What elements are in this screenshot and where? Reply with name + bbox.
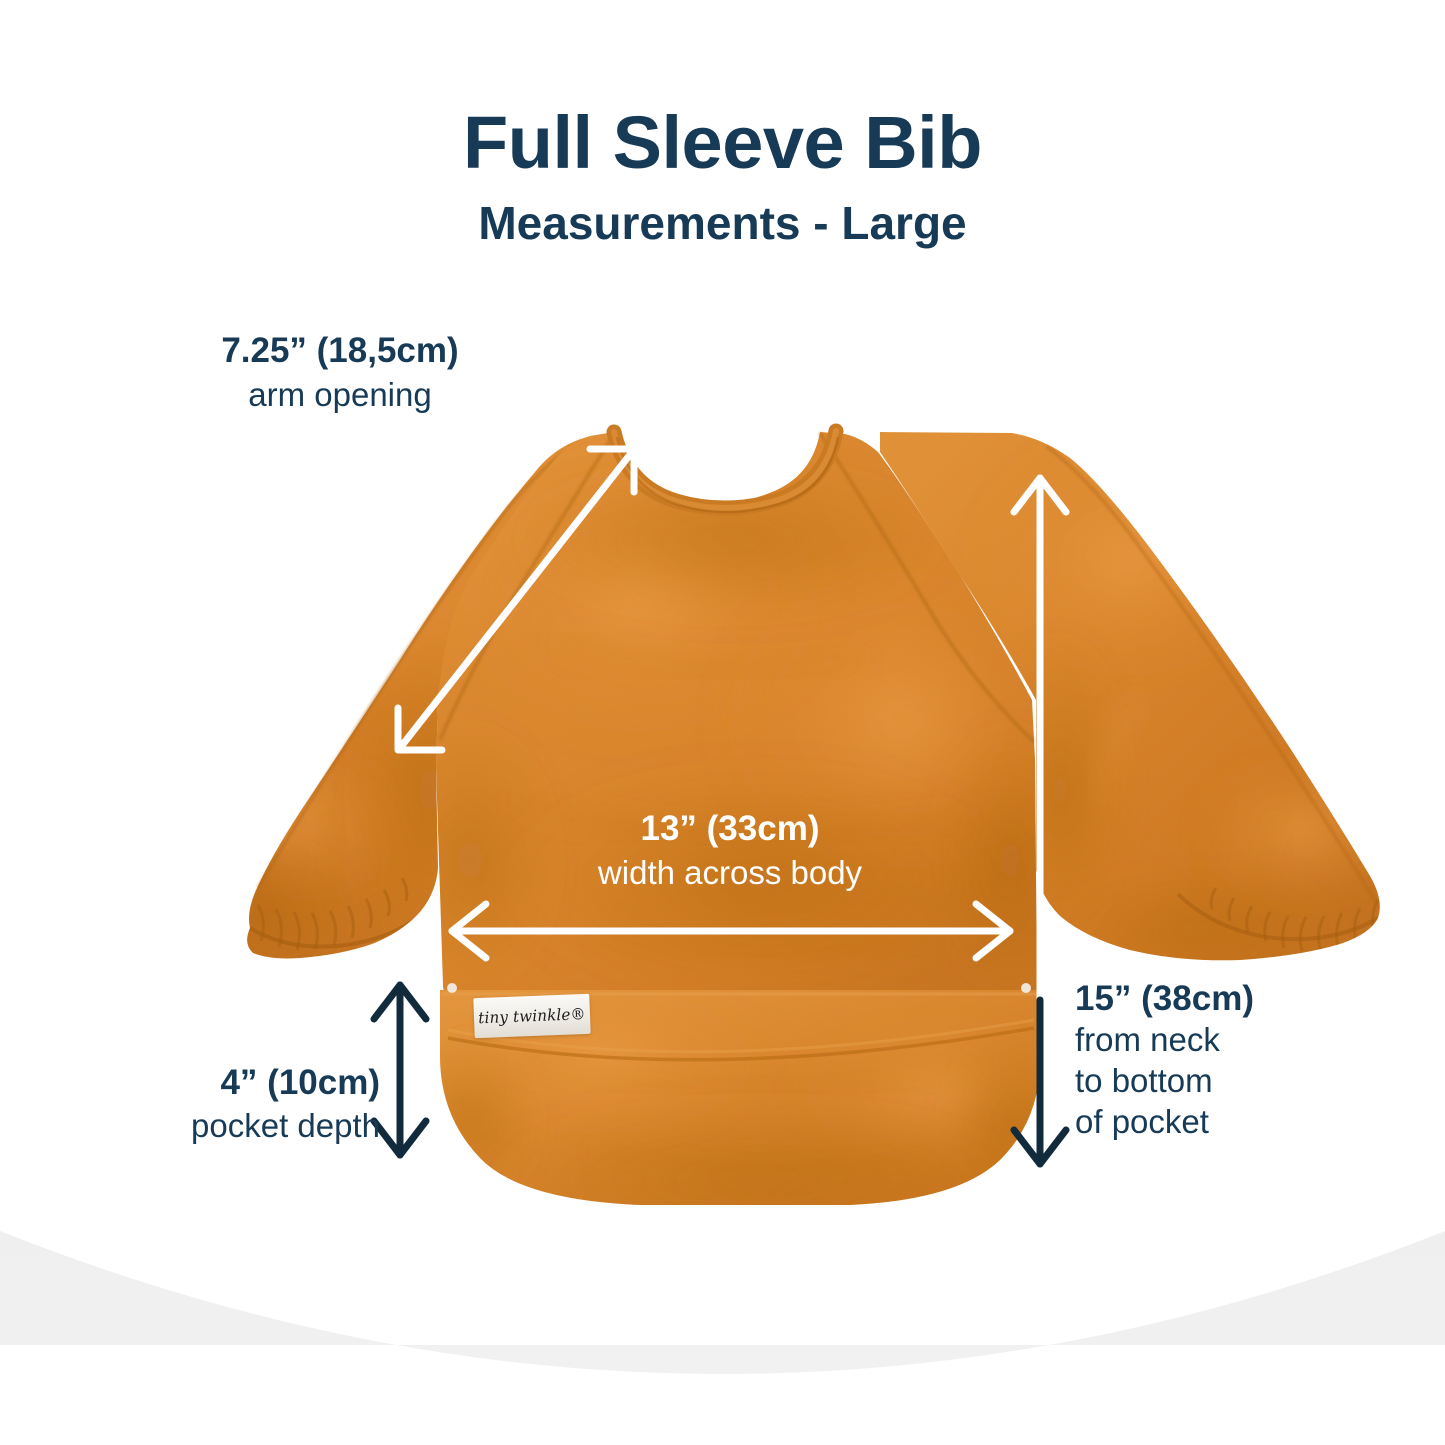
- pocket-snap-right: [1021, 983, 1031, 993]
- arm-opening-caption: arm opening: [60, 376, 620, 415]
- neck-to-pocket-value: 15” (38cm): [1075, 978, 1405, 1019]
- neck-to-pocket-caption-line3: of pocket: [1075, 1103, 1405, 1142]
- measurement-label-pocket-depth: 4” (10cm) pocket depth: [80, 1062, 380, 1146]
- background-floor-band: [0, 1231, 1445, 1374]
- neck-to-pocket-caption-line2: to bottom: [1075, 1062, 1405, 1101]
- pocket-depth-value: 4” (10cm): [80, 1062, 380, 1103]
- brand-label-text: tiny twinkle®: [478, 1004, 586, 1027]
- width-across-body-caption: width across body: [430, 854, 1030, 893]
- measurement-label-width-across-body: 13” (33cm) width across body: [430, 808, 1030, 893]
- page-subtitle: Measurements - Large: [0, 200, 1445, 246]
- width-across-body-value: 13” (33cm): [430, 808, 1030, 849]
- neck-to-pocket-caption-line1: from neck: [1075, 1021, 1405, 1060]
- pocket-snap-left: [447, 983, 457, 993]
- double-arrow-vertical-pocket-icon: [374, 985, 426, 1155]
- brand-label-tag: tiny twinkle®: [473, 994, 590, 1038]
- arm-opening-value: 7.25” (18,5cm): [60, 330, 620, 371]
- measurement-label-neck-to-pocket: 15” (38cm) from neck to bottom of pocket: [1075, 978, 1405, 1142]
- measurement-diagram: Full Sleeve Bib Measurements - Large 7.2…: [0, 0, 1445, 1445]
- pocket-depth-caption: pocket depth: [80, 1107, 380, 1146]
- measurement-label-arm-opening: 7.25” (18,5cm) arm opening: [60, 330, 620, 415]
- page-title: Full Sleeve Bib: [0, 106, 1445, 180]
